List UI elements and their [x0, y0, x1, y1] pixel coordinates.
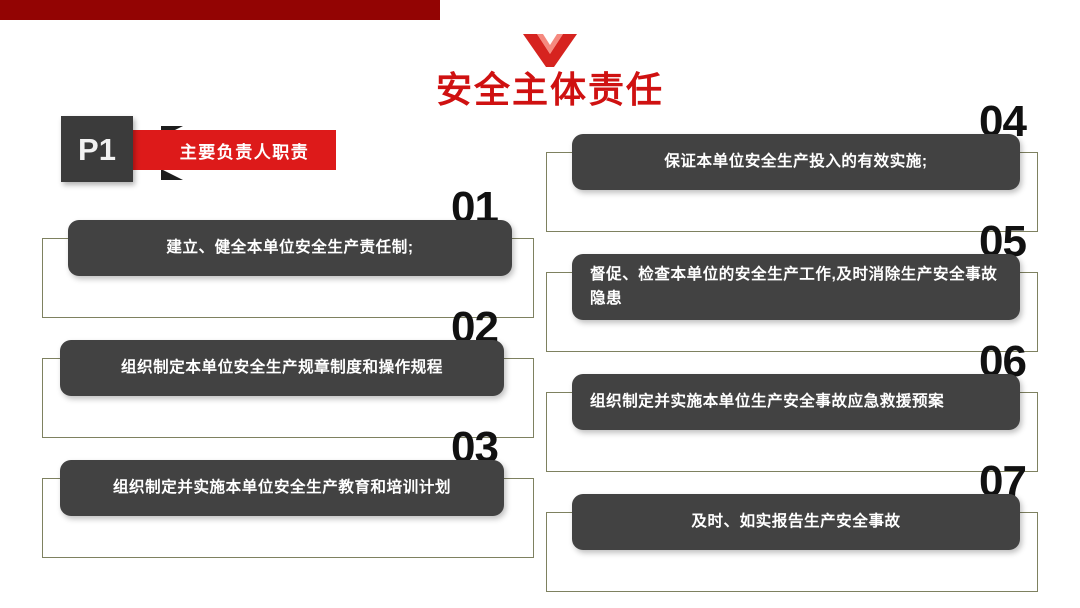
chevron-down-icon: [523, 34, 577, 68]
top-accent-bar: [0, 0, 440, 20]
slide-title-block: 安全主体责任: [400, 34, 700, 110]
duty-card[interactable]: 及时、如实报告生产安全事故: [572, 494, 1020, 550]
duty-text: 组织制定并实施本单位安全生产教育和培训计划: [113, 476, 451, 500]
section-label: 主要负责人职责: [153, 130, 336, 170]
duty-card[interactable]: 组织制定并实施本单位安全生产教育和培训计划: [60, 460, 504, 516]
duty-card[interactable]: 保证本单位安全生产投入的有效实施;: [572, 134, 1020, 190]
duty-row: 01 建立、健全本单位安全生产责任制;: [24, 196, 534, 316]
section-ribbon: 主要负责人职责 P1: [55, 116, 345, 182]
duty-column-right: 04 保证本单位安全生产投入的有效实施; 05 督促、检查本单位的安全生产工作,…: [536, 110, 1056, 590]
duty-card[interactable]: 组织制定本单位安全生产规章制度和操作规程: [60, 340, 504, 396]
duty-card[interactable]: 组织制定并实施本单位生产安全事故应急救援预案: [572, 374, 1020, 430]
duty-row: 06 组织制定并实施本单位生产安全事故应急救援预案: [536, 350, 1056, 470]
section-badge-text: P1: [78, 134, 116, 165]
duty-text: 建立、健全本单位安全生产责任制;: [166, 236, 413, 260]
section-badge: P1: [61, 116, 133, 182]
duty-card[interactable]: 督促、检查本单位的安全生产工作,及时消除生产安全事故隐患: [572, 254, 1020, 320]
duty-card[interactable]: 建立、健全本单位安全生产责任制;: [68, 220, 512, 276]
duty-row: 03 组织制定并实施本单位安全生产教育和培训计划: [24, 436, 534, 556]
duty-row: 05 督促、检查本单位的安全生产工作,及时消除生产安全事故隐患: [536, 230, 1056, 350]
duty-text: 组织制定本单位安全生产规章制度和操作规程: [121, 356, 443, 380]
duty-row: 04 保证本单位安全生产投入的有效实施;: [536, 110, 1056, 230]
duty-text: 及时、如实报告生产安全事故: [691, 510, 900, 534]
page-title: 安全主体责任: [400, 70, 700, 110]
duty-row: 02 组织制定本单位安全生产规章制度和操作规程: [24, 316, 534, 436]
duty-text: 督促、检查本单位的安全生产工作,及时消除生产安全事故隐患: [590, 263, 1002, 311]
duty-row: 07 及时、如实报告生产安全事故: [536, 470, 1056, 590]
duty-text: 保证本单位安全生产投入的有效实施;: [664, 150, 927, 174]
duty-column-left: 01 建立、健全本单位安全生产责任制; 02 组织制定本单位安全生产规章制度和操…: [24, 196, 534, 556]
ribbon-fold-bottom: [161, 169, 183, 180]
duty-text: 组织制定并实施本单位生产安全事故应急救援预案: [590, 390, 944, 414]
